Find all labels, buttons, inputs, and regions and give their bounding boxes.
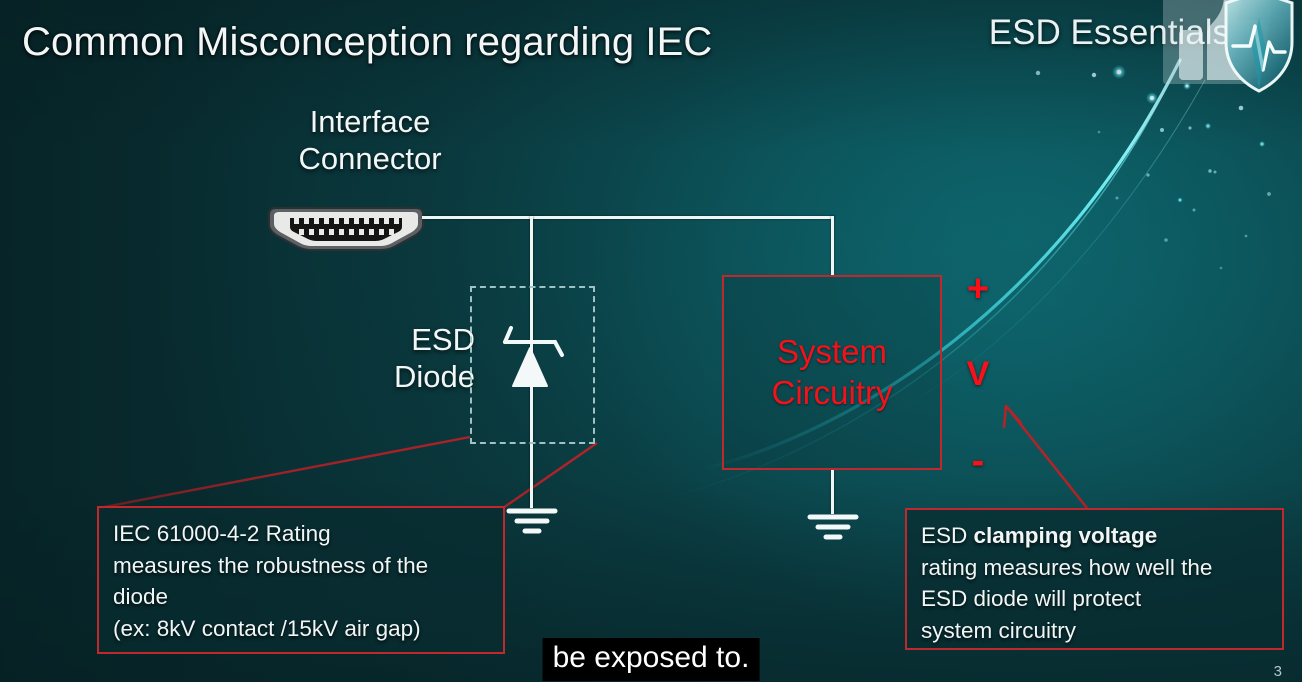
ground-symbol-icon-system: [806, 511, 860, 545]
esd-diode-label: ESD Diode: [345, 322, 475, 395]
polarity-minus-label: -: [958, 440, 998, 483]
callout-clamping-voltage: ESD clamping voltage rating measures how…: [905, 508, 1284, 650]
callout-right-line1-prefix: ESD: [921, 523, 974, 548]
polarity-voltage-label: V: [958, 355, 998, 394]
system-box-line1: System: [777, 332, 887, 372]
system-circuitry-box: System Circuitry: [722, 275, 942, 470]
page-number: 3: [1274, 663, 1282, 680]
wire-system-ground: [831, 469, 834, 514]
system-box-line2: Circuitry: [772, 373, 893, 413]
zener-diode-icon: [495, 318, 585, 398]
callout-left-line3: diode: [113, 581, 489, 613]
interface-label-line2: Connector: [270, 141, 470, 178]
hdmi-connector-icon: [266, 205, 426, 252]
wire-system-feed: [831, 216, 834, 276]
slide-canvas: Common Misconception regarding IEC ESD E…: [0, 0, 1302, 682]
wire-top-horizontal: [422, 216, 834, 219]
video-caption: be exposed to.: [543, 638, 760, 681]
callout-left-line4: (ex: 8kV contact /15kV air gap): [113, 613, 489, 645]
callout-right-line3: ESD diode will protect: [921, 583, 1268, 615]
esd-diode-label-line2: Diode: [345, 359, 475, 396]
page-title: Common Misconception regarding IEC: [22, 20, 712, 65]
callout-left-line2: measures the robustness of the: [113, 550, 489, 582]
interface-label-line1: Interface: [270, 104, 470, 141]
shield-pulse-icon: [1222, 0, 1296, 94]
polarity-plus-label: +: [958, 268, 998, 311]
callout-right-line2: rating measures how well the: [921, 552, 1268, 584]
esd-diode-label-line1: ESD: [345, 322, 475, 359]
callout-iec-rating: IEC 61000-4-2 Rating measures the robust…: [97, 506, 505, 654]
callout-right-line1-bold: clamping voltage: [974, 523, 1158, 548]
callout-left-line1: IEC 61000-4-2 Rating: [113, 518, 489, 550]
ground-symbol-icon-diode: [505, 505, 559, 539]
callout-right-line1: ESD clamping voltage: [921, 520, 1268, 552]
interface-connector-label: Interface Connector: [270, 104, 470, 177]
callout-right-line4: system circuitry: [921, 615, 1268, 647]
